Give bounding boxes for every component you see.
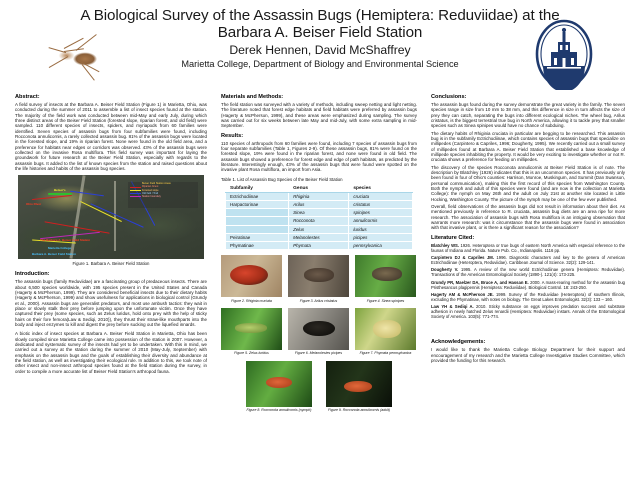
- figure-rocconota-adult-image: [326, 361, 392, 407]
- assassin-bug-header-photo: [38, 34, 122, 82]
- figure-caption: Figure 3. Arilus cristatus: [288, 299, 349, 303]
- acknowledgements-text: I would like to thank the Marietta Colle…: [431, 347, 625, 363]
- figure-caption: Figure 2. Rhiginia cruciata: [221, 299, 282, 303]
- conclusions-paragraph-3: The discovery of the species Rocconota a…: [431, 165, 625, 202]
- figure-arilus-cristatus: Figure 3. Arilus cristatus: [288, 255, 349, 303]
- abstract-heading: Abstract:: [15, 94, 207, 100]
- figure-caption: Figure 4. Sinea spinipes: [355, 299, 416, 303]
- reference-item: Blatchley WS. 1926. Heteroptera or true …: [431, 243, 625, 253]
- table-1-caption: Table 1. List of Assassin Bug Species of…: [221, 177, 417, 182]
- cell-genus: Zelus: [289, 225, 349, 233]
- conclusions-paragraph-4: Overall, field observations of the assas…: [431, 204, 625, 231]
- figure-melanolestes-picipes: Figure 6. Melanolestes picipes: [288, 308, 349, 356]
- methods-text: The field station was surveyed with a va…: [221, 102, 417, 129]
- figure-grid-bottom: Figure 8. Rocconota annulicornis (nymph)…: [221, 361, 417, 413]
- reference-body: 1995. A review of the new world Ectricho…: [431, 267, 625, 277]
- table-row: Rocconota annulicornis: [226, 217, 413, 225]
- cell-subfamily: Harpactorinae: [226, 200, 289, 208]
- reference-item: Carpintero DJ & Capriles JM. 1996. Diagn…: [431, 255, 625, 265]
- results-text: 110 species of arthropods from 60 famili…: [221, 141, 417, 173]
- reference-item: Hagerty AM & McPherson JE. 1999. Survey …: [431, 292, 625, 302]
- figure-1-block: Beiser's Ohio River The Barbara A. Beise…: [15, 175, 207, 266]
- column-left: Abstract: A field survey of insects at t…: [8, 94, 214, 480]
- introduction-heading: Introduction:: [15, 271, 207, 277]
- map-legend: Beiser Field Station Areas Riparian fore…: [128, 182, 198, 208]
- cell-subfamily: Peiratinae: [226, 233, 289, 241]
- table-header-genus: Genus: [289, 184, 349, 192]
- abstract-text: A field survey of insects at the Barbara…: [15, 102, 207, 171]
- figure-melanolestes-picipes-image: [288, 308, 349, 350]
- table-row: Harpactorinae Arilus cristatus: [226, 200, 413, 208]
- figure-sinea-spinipes-image: [355, 255, 416, 297]
- figure-grid-top: Figure 2. Rhiginia cruciata Figure 3. Ar…: [221, 255, 417, 355]
- cell-genus: Sinea: [289, 209, 349, 217]
- introduction-paragraph-1: The assassin bugs (family Reduviidae) ar…: [15, 279, 207, 327]
- figure-caption: Figure 9. Rocconota annulicornis (adult): [326, 408, 392, 412]
- cell-species: picipes: [349, 233, 413, 241]
- affiliation: Marietta College, Department of Biology …: [70, 59, 570, 70]
- table-header-subfamily: Subfamily: [226, 184, 289, 192]
- table-row: Peiratinae Melanolestes picipes: [226, 233, 413, 241]
- cell-genus: Rhiginia: [289, 192, 349, 200]
- table-row: Zelus luridus: [226, 225, 413, 233]
- conclusions-paragraph-2: The dietary habits of Rhiginia cruciata …: [431, 131, 625, 163]
- figure-rocconota-nymph-image: [246, 361, 312, 407]
- section-spacer: [431, 321, 625, 339]
- table-row: Phymatinae Phymata pennsylvanica: [226, 241, 413, 249]
- cell-subfamily: Ectrichodiinae: [226, 192, 289, 200]
- cell-species: spinipes: [349, 209, 413, 217]
- cell-species: cruciata: [349, 192, 413, 200]
- literature-cited-heading: Literature Cited:: [431, 235, 625, 241]
- figure-phymata-pennsylvanica-image: [355, 308, 416, 350]
- cell-genus: Arilus: [289, 200, 349, 208]
- conclusions-heading: Conclusions:: [431, 94, 625, 100]
- reference-body: 1926. Heteroptera or true bugs of easter…: [431, 243, 625, 253]
- column-right: Conclusions: The assassin bugs found dur…: [424, 94, 632, 480]
- cell-subfamily: [226, 217, 289, 225]
- poster-columns: Abstract: A field survey of insects at t…: [0, 94, 640, 480]
- figure-caption: Figure 6. Melanolestes picipes: [288, 351, 349, 355]
- column-middle: Materials and Methods: The field station…: [214, 94, 424, 480]
- table-header-species: species: [349, 184, 413, 192]
- cell-species: annulicornis: [349, 217, 413, 225]
- cell-genus: Phymata: [289, 241, 349, 249]
- figure-rocconota-adult: Figure 9. Rocconota annulicornis (adult): [326, 361, 392, 413]
- figure-1-caption: Figure 1. Barbara A. Beiser Field Statio…: [15, 261, 207, 266]
- figure-caption: Figure 5. Zelus luridus: [221, 351, 282, 355]
- cell-subfamily: [226, 209, 289, 217]
- cell-genus: Melanolestes: [289, 233, 349, 241]
- acknowledgements-heading: Acknowledgements:: [431, 339, 625, 345]
- figure-caption: Figure 8. Rocconota annulicornis (nymph): [246, 408, 312, 412]
- figure-caption: Figure 7. Phymata pennsylvanica: [355, 351, 416, 355]
- cell-subfamily: Phymatinae: [226, 241, 289, 249]
- figure-zelus-luridus-image: [221, 308, 282, 350]
- figure-sinea-spinipes: Figure 4. Sinea spinipes: [355, 255, 416, 303]
- table-row: Ectrichodiinae Rhiginia cruciata: [226, 192, 413, 200]
- introduction-paragraph-2: A biotic index of insect species at Barb…: [15, 331, 207, 374]
- page-title: A Biological Survey of the Assassin Bugs…: [70, 7, 570, 41]
- figure-rhiginia-cruciata-image: [221, 255, 282, 297]
- figure-phymata-pennsylvanica: Figure 7. Phymata pennsylvanica: [355, 308, 416, 356]
- marietta-college-seal: [534, 18, 594, 90]
- reference-item: Grundy PR, Maelzer DA, Bruce A, and Hass…: [431, 280, 625, 290]
- cell-species: luridus: [349, 225, 413, 233]
- species-table: Subfamily Genus species Ectrichodiinae R…: [225, 184, 413, 251]
- cell-subfamily: [226, 225, 289, 233]
- figure-rhiginia-cruciata: Figure 2. Rhiginia cruciata: [221, 255, 282, 303]
- reference-item: Law YH & Sediqi A. 2010. Sticky substanc…: [431, 304, 625, 319]
- figure-zelus-luridus: Figure 5. Zelus luridus: [221, 308, 282, 356]
- poster-canvas: A Biological Survey of the Assassin Bugs…: [0, 0, 640, 480]
- author-list: Derek Hennen, David McShaffrey: [70, 43, 570, 57]
- poster-header: A Biological Survey of the Assassin Bugs…: [0, 0, 640, 94]
- methods-heading: Materials and Methods:: [221, 94, 417, 100]
- results-heading: Results:: [221, 133, 417, 139]
- figure-rocconota-nymph: Figure 8. Rocconota annulicornis (nymph): [246, 361, 312, 413]
- cell-species: pennsylvanica: [349, 241, 413, 249]
- reference-item: Dougherty V. 1995. A review of the new w…: [431, 267, 625, 277]
- cell-species: cristatus: [349, 200, 413, 208]
- table-row: Sinea spinipes: [226, 209, 413, 217]
- field-station-aerial-map: Beiser's Ohio River The Barbara A. Beise…: [18, 175, 204, 259]
- cell-genus: Rocconota: [289, 217, 349, 225]
- conclusions-paragraph-1: The assassin bugs found during the surve…: [431, 102, 625, 129]
- figure-arilus-cristatus-image: [288, 255, 349, 297]
- table-header-row: Subfamily Genus species: [226, 184, 413, 192]
